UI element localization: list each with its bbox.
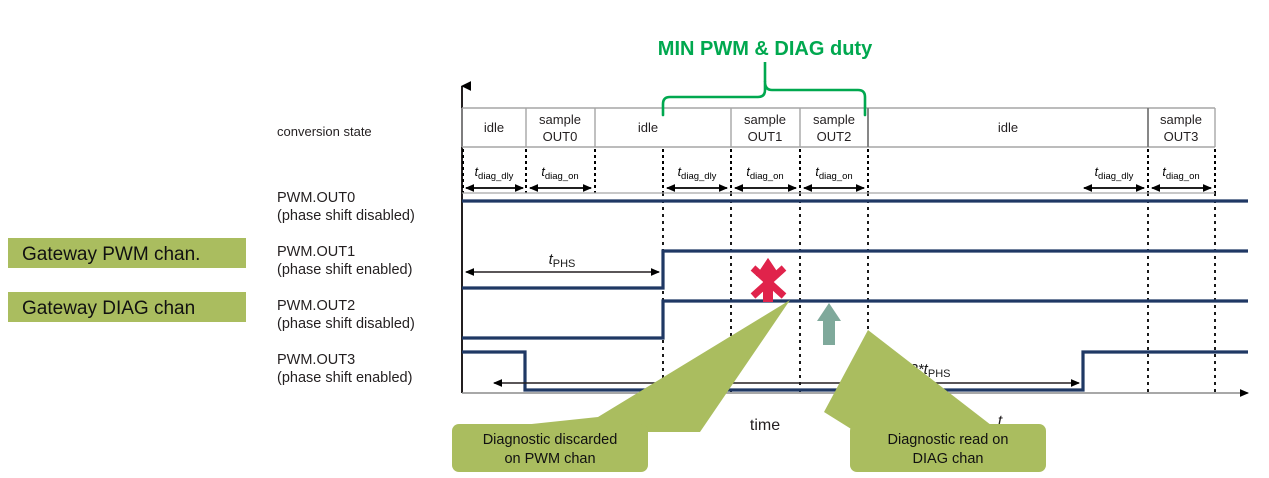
timing-measure-2: tdiag_dly xyxy=(667,165,727,188)
state-cell-sample-out1: sample OUT1 xyxy=(744,112,786,144)
channel-name: PWM.OUT0 xyxy=(277,190,355,206)
two-tphs-measure: 2*tPHS xyxy=(494,361,1079,383)
side-badge-pwm: Gateway PWM chan. xyxy=(8,238,246,268)
channel-name: PWM.OUT2 xyxy=(277,298,355,314)
timing-label: tdiag_dly xyxy=(1095,165,1134,182)
timing-label: tdiag_on xyxy=(1162,165,1199,182)
channel-note: (phase shift disabled) xyxy=(277,316,415,332)
state-cell-idle-3: idle xyxy=(998,120,1018,135)
state-sub: OUT2 xyxy=(817,129,852,144)
up-arrow-icon xyxy=(817,303,841,345)
channel-label-out3: PWM.OUT3 (phase shift enabled) xyxy=(277,352,412,386)
tphs-measure: tPHS xyxy=(466,251,659,272)
state-label: sample xyxy=(744,112,786,127)
side-badge-diag-label: Gateway DIAG chan xyxy=(22,298,195,319)
conversion-state-table: idle sample OUT0 idle sample OUT1 sample… xyxy=(462,108,1215,147)
channel-note: (phase shift disabled) xyxy=(277,208,415,224)
state-label: idle xyxy=(484,120,504,135)
callout-discarded-tail xyxy=(456,300,790,432)
diagram-canvas: Gateway PWM chan. Gateway DIAG chan conv… xyxy=(0,0,1269,478)
state-cell-idle-1: idle xyxy=(484,120,504,135)
green-brace xyxy=(663,82,865,115)
side-badge-diag: Gateway DIAG chan xyxy=(8,292,246,322)
state-label: idle xyxy=(638,120,658,135)
crossed-up-arrow-icon xyxy=(753,258,784,302)
callout-read-tail xyxy=(824,330,1000,432)
state-label: sample xyxy=(813,112,855,127)
callout-read-line2: DIAG chan xyxy=(913,451,984,467)
state-cell-sample-out3: sample OUT3 xyxy=(1160,112,1202,144)
timing-measure-0: tdiag_dly xyxy=(466,165,523,188)
waveform-pwm-out2 xyxy=(462,301,1248,338)
timing-label: tdiag_dly xyxy=(678,165,717,182)
timing-label: tdiag_on xyxy=(815,165,852,182)
timing-label: tdiag_on xyxy=(746,165,783,182)
timing-measures: tdiag_dly tdiag_on tdiag_dly tdiag_on td… xyxy=(466,165,1211,188)
state-sub: OUT1 xyxy=(748,129,783,144)
channel-name: PWM.OUT1 xyxy=(277,244,355,260)
timing-measure-1: tdiag_on xyxy=(530,165,591,188)
state-cell-sample-out2: sample OUT2 xyxy=(813,112,855,144)
timing-measure-6: tdiag_on xyxy=(1152,165,1211,188)
callout-discarded-line2: on PWM chan xyxy=(504,451,595,467)
side-badge-pwm-label: Gateway PWM chan. xyxy=(22,244,200,265)
timing-measure-3: tdiag_on xyxy=(735,165,796,188)
timing-label: tdiag_dly xyxy=(475,165,514,182)
callout-read-line1: Diagnostic read on xyxy=(888,432,1009,448)
timing-diagram-figure: Gateway PWM chan. Gateway DIAG chan conv… xyxy=(0,0,1269,478)
channel-note: (phase shift enabled) xyxy=(277,262,412,278)
state-sub: OUT0 xyxy=(543,129,578,144)
callout-discarded: Diagnostic discarded on PWM chan xyxy=(452,300,790,472)
timing-label: tdiag_on xyxy=(541,165,578,182)
min-pwm-diag-duty-label: MIN PWM & DIAG duty xyxy=(658,38,873,60)
min-pwm-diag-duty-annotation: MIN PWM & DIAG duty xyxy=(658,38,873,115)
state-label: sample xyxy=(1160,112,1202,127)
channel-name: PWM.OUT3 xyxy=(277,352,355,368)
timing-measure-5: tdiag_dly xyxy=(1084,165,1144,188)
channel-label-out2: PWM.OUT2 (phase shift disabled) xyxy=(277,298,415,332)
time-axis-label: time xyxy=(750,417,780,434)
timing-measure-4: tdiag_on xyxy=(804,165,864,188)
waveform-pwm-out1 xyxy=(462,251,1248,288)
state-label: idle xyxy=(998,120,1018,135)
state-cell-sample-out0: sample OUT0 xyxy=(539,112,581,144)
state-sub: OUT3 xyxy=(1164,129,1199,144)
callout-discarded-line1: Diagnostic discarded xyxy=(483,432,618,448)
state-label: sample xyxy=(539,112,581,127)
tphs-label: tPHS xyxy=(549,251,576,270)
channel-note: (phase shift enabled) xyxy=(277,370,412,386)
channel-label-out0: PWM.OUT0 (phase shift disabled) xyxy=(277,190,415,224)
channel-label-out1: PWM.OUT1 (phase shift enabled) xyxy=(277,244,412,278)
conversion-state-label: conversion state xyxy=(277,124,372,139)
state-cell-idle-2: idle xyxy=(638,120,658,135)
callout-read: Diagnostic read on DIAG chan xyxy=(824,330,1046,472)
